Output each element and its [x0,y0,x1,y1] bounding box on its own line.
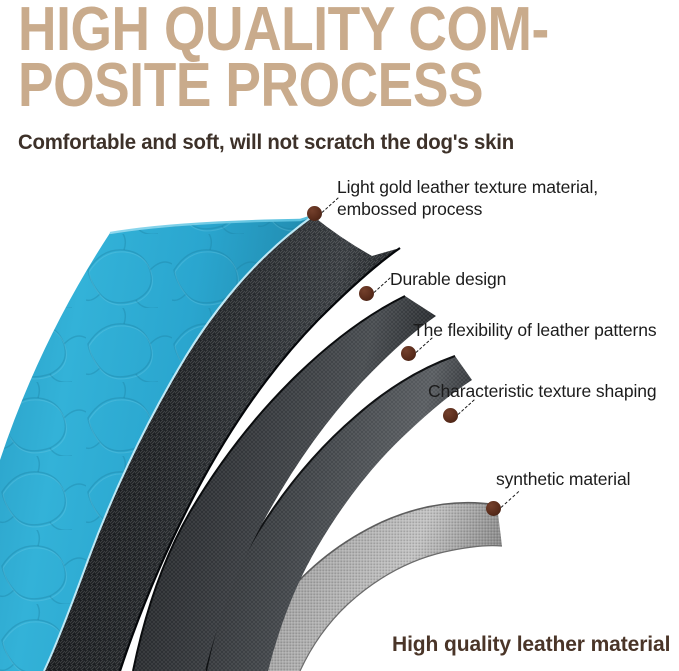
callout-label-durable-design: Durable design [390,268,506,290]
callout-label-leather-flexibility: The flexibility of leather patterns [413,319,657,341]
callout-dot-texture-shaping [443,408,458,423]
callout-dot-light-gold-leather [307,206,322,221]
callout-label-light-gold-leather: Light gold leather texture material, emb… [337,176,598,220]
page-subtitle: Comfortable and soft, will not scratch t… [18,131,514,155]
page-title: HIGH QUALITY COM- POSITE PROCESS [18,2,577,114]
product-infographic: HIGH QUALITY COM- POSITE PROCESS Comfort… [0,0,679,671]
callout-label-texture-shaping: Characteristic texture shaping [428,380,657,402]
callout-dot-durable-design [359,286,374,301]
callout-dot-leather-flexibility [401,346,416,361]
callout-label-synthetic-material: synthetic material [496,468,630,490]
bottom-caption: High quality leather material [392,633,670,657]
callout-dot-synthetic-material [486,501,501,516]
material-layers-illustration [0,160,560,671]
